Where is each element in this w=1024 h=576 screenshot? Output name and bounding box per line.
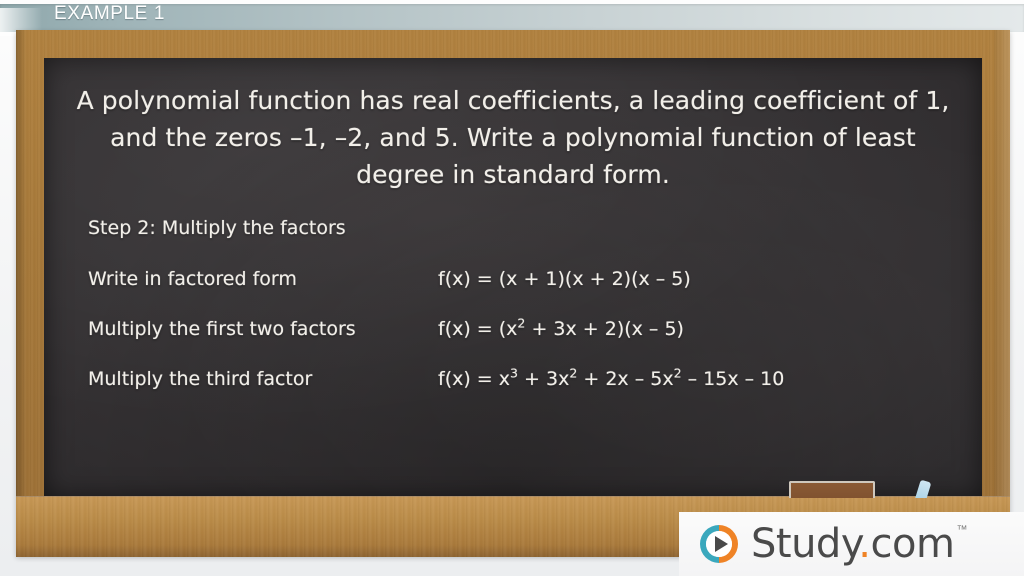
trademark-symbol: ™: [956, 524, 967, 536]
step-equation: f(x) = x3 + 3x2 + 2x – 5x2 – 15x – 10: [438, 367, 948, 391]
book-on-ledge: [789, 481, 875, 498]
step-equation: f(x) = (x2 + 3x + 2)(x – 5): [438, 317, 948, 341]
slide-stage: EXAMPLE 1 A polynomial function has real…: [0, 0, 1024, 576]
step-label: Multiply the third factor: [88, 367, 438, 391]
frame-left-shadow: [16, 30, 26, 556]
solution-steps: Step 2: Multiply the factors Write in fa…: [88, 216, 948, 417]
problem-statement: A polynomial function has real coefficie…: [76, 82, 950, 193]
step-row: Write in factored form f(x) = (x + 1)(x …: [88, 267, 948, 291]
study-com-logo[interactable]: Study.com ™: [679, 512, 1024, 576]
step-label: Write in factored form: [88, 267, 438, 291]
logo-word-com: com: [871, 521, 955, 567]
chalkboard-surface: A polynomial function has real coefficie…: [44, 58, 982, 498]
logo-word-study: Study: [751, 521, 858, 567]
example-banner-label: EXAMPLE 1: [54, 3, 165, 25]
frame-right-highlight: [994, 30, 1010, 556]
logo-dot: .: [858, 521, 870, 567]
step-row: Multiply the first two factors f(x) = (x…: [88, 317, 948, 341]
step-row: Multiply the third factor f(x) = x3 + 3x…: [88, 367, 948, 391]
step-heading: Step 2: Multiply the factors: [88, 216, 948, 240]
step-equation: f(x) = (x + 1)(x + 2)(x – 5): [438, 267, 948, 291]
study-com-wordmark: Study.com: [751, 522, 954, 566]
step-label: Multiply the first two factors: [88, 317, 438, 341]
play-circle-icon: [697, 522, 741, 566]
